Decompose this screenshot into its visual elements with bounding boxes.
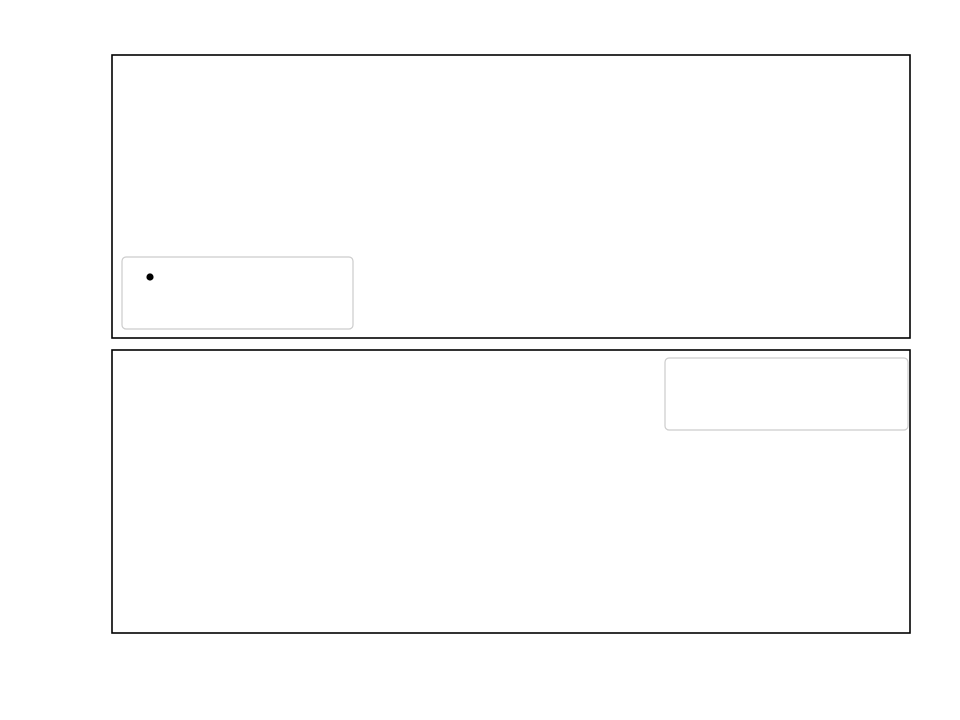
- measurements-marker-icon: [146, 273, 153, 280]
- matplotlib-figure: [0, 0, 960, 720]
- top-legend-box: [122, 257, 353, 329]
- chart-canvas: [0, 0, 960, 720]
- bottom-legend-box: [665, 358, 908, 430]
- bottom-panel-legend[interactable]: [665, 358, 908, 430]
- top-panel-legend[interactable]: [122, 257, 353, 329]
